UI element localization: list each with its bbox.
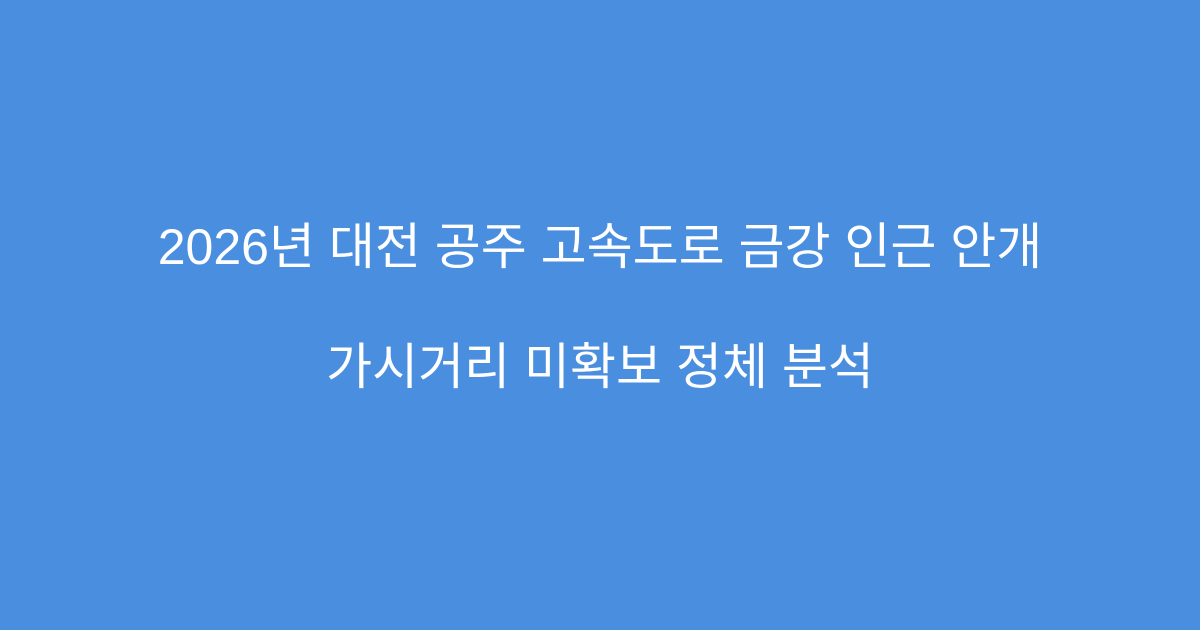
title-block: 2026년 대전 공주 고속도로 금강 인근 안개 가시거리 미확보 정체 분석: [0, 157, 1200, 457]
page-title: 2026년 대전 공주 고속도로 금강 인근 안개 가시거리 미확보 정체 분석: [60, 157, 1140, 457]
title-line-1: 2026년 대전 공주 고속도로 금강 인근 안개: [60, 217, 1140, 277]
og-card-canvas: 2026년 대전 공주 고속도로 금강 인근 안개 가시거리 미확보 정체 분석: [0, 0, 1200, 630]
title-line-2: 가시거리 미확보 정체 분석: [60, 337, 1140, 397]
